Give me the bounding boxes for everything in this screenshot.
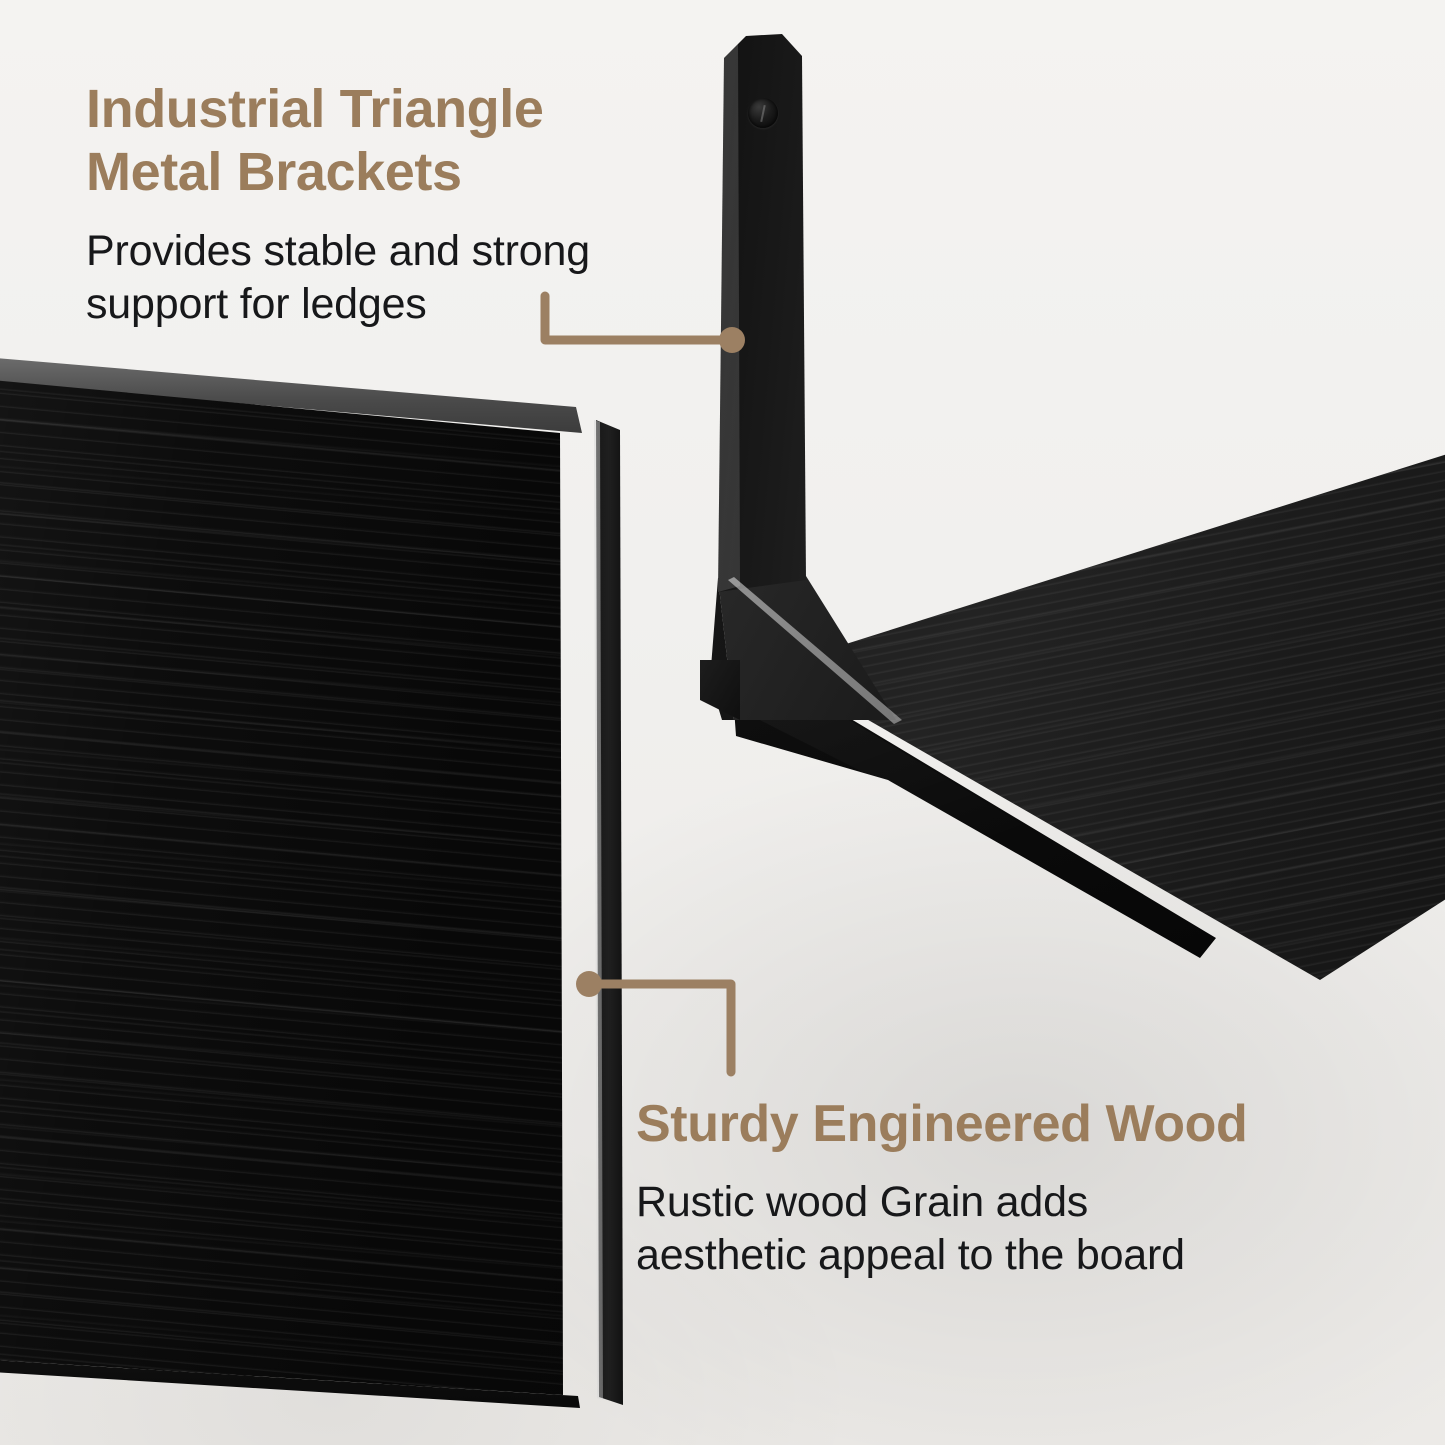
left-board — [0, 355, 600, 1425]
callout-heading-bracket: Industrial Triangle Metal Brackets — [86, 78, 746, 203]
metal-bracket — [660, 20, 1280, 980]
callout-heading-board: Sturdy Engineered Wood — [636, 1094, 1426, 1154]
callout-body-bracket: Provides stable and strong support for l… — [86, 225, 746, 330]
callout-text-board: Sturdy Engineered Wood Rustic wood Grain… — [636, 1094, 1426, 1281]
left-board-sheen — [0, 355, 600, 1425]
bracket-vertical-arm — [660, 20, 1280, 980]
callout-text-bracket: Industrial Triangle Metal Brackets Provi… — [86, 78, 746, 330]
callout-body-board: Rustic wood Grain adds aesthetic appeal … — [636, 1176, 1426, 1281]
bracket-screw-hole-icon — [748, 98, 778, 128]
infographic-canvas: Industrial Triangle Metal Brackets Provi… — [0, 0, 1445, 1445]
